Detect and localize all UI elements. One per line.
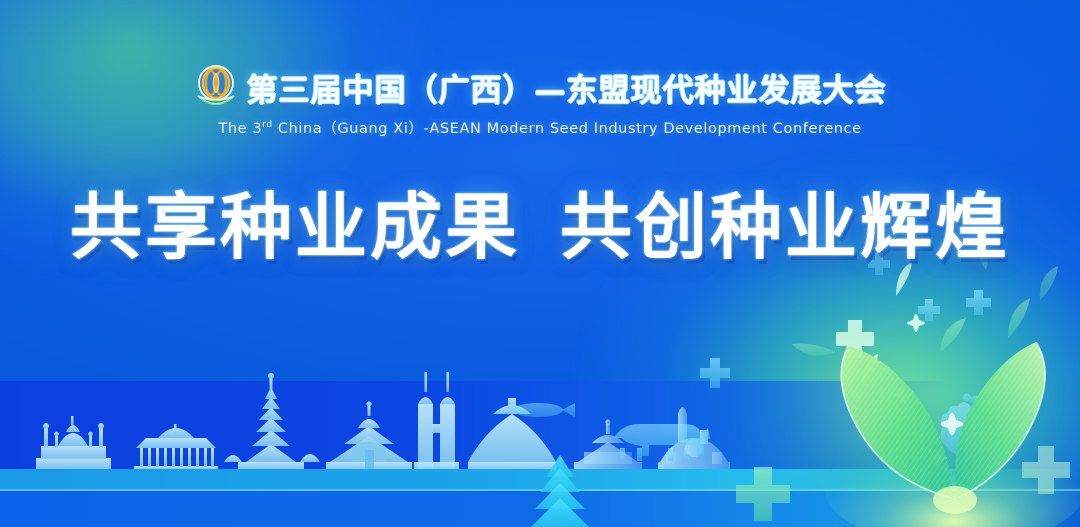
title-en-pre: The 3 (218, 121, 262, 137)
slogan-line-right: 共创种业辉煌 (560, 185, 1010, 269)
slogan-line-left: 共享种业成果 (70, 185, 520, 269)
conference-poster: 第三届中国（广西）—东盟现代种业发展大会 The 3rd China（Guang… (0, 0, 1080, 527)
slogan: 共享种业成果共创种业辉煌 (0, 168, 1080, 273)
conference-emblem-logo (194, 62, 238, 112)
scene-band-lower (0, 491, 1080, 527)
title-en-post: China（Guang Xi）-ASEAN Modern Seed Indust… (273, 121, 862, 137)
title-en-ordinal: rd (262, 120, 272, 130)
scene-band-bright (0, 469, 1080, 491)
title-row: 第三届中国（广西）—东盟现代种业发展大会 (194, 62, 887, 112)
header: 第三届中国（广西）—东盟现代种业发展大会 The 3rd China（Guang… (0, 62, 1080, 138)
scene-band-dark (0, 381, 1080, 469)
conference-title-chinese: 第三届中国（广西）—东盟现代种业发展大会 (247, 65, 887, 110)
conference-title-english: The 3rd China（Guang Xi）-ASEAN Modern See… (218, 117, 861, 138)
